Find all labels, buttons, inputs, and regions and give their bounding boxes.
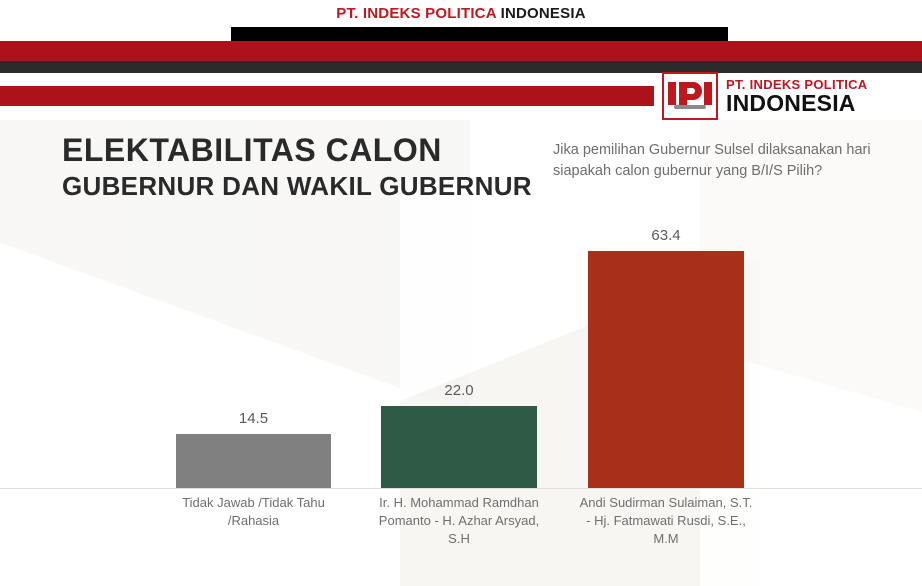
chart-baseline bbox=[0, 488, 922, 489]
page-title-line2: GUBERNUR DAN WAKIL GUBERNUR bbox=[62, 171, 532, 201]
chart-category-label: Tidak Jawab /Tidak Tahu/Rahasia bbox=[154, 494, 353, 530]
brand-logo: PT. INDEKS POLITICA INDONESIA bbox=[662, 72, 868, 120]
brand-logo-line1: PT. INDEKS POLITICA bbox=[726, 78, 868, 91]
brand-logo-line2: INDONESIA bbox=[726, 92, 868, 115]
chart-bar-value: 14.5 bbox=[176, 410, 331, 427]
chart-category-label: Ir. H. Mohammad RamdhanPomanto - H. Azha… bbox=[359, 494, 559, 548]
ipi-logo-icon bbox=[662, 72, 718, 120]
masthead-brand-black: INDONESIA bbox=[501, 5, 586, 22]
chart-plot-area: 14.5 22.0 63.4 bbox=[0, 200, 922, 488]
masthead-brand-red: PT. INDEKS POLITICA bbox=[336, 5, 496, 22]
chart-bar: 22.0 bbox=[381, 406, 537, 488]
masthead-red-band bbox=[0, 41, 922, 61]
page-title: ELEKTABILITAS CALON GUBERNUR DAN WAKIL G… bbox=[62, 133, 532, 201]
chart-bar: 63.4 bbox=[588, 251, 744, 488]
chart-bar: 14.5 bbox=[176, 434, 331, 488]
masthead-title: PT. INDEKS POLITICA INDONESIA bbox=[0, 5, 922, 23]
chart-bar-value: 22.0 bbox=[381, 382, 537, 399]
slide-root: PT. INDEKS POLITICA INDONESIA PT. INDEKS… bbox=[0, 0, 922, 586]
page-title-line1: ELEKTABILITAS CALON bbox=[62, 133, 532, 167]
chart-bar-value: 63.4 bbox=[588, 227, 744, 244]
bar-chart: 14.5 22.0 63.4 Tidak Jawab /Tidak Tahu/R… bbox=[0, 200, 922, 586]
brand-logo-text: PT. INDEKS POLITICA INDONESIA bbox=[726, 78, 868, 115]
survey-question: Jika pemilihan Gubernur Sulsel dilaksana… bbox=[553, 140, 903, 182]
secondary-red-band bbox=[0, 86, 654, 106]
chart-category-label: Andi Sudirman Sulaiman, S.T.- Hj. Fatmaw… bbox=[566, 494, 766, 548]
